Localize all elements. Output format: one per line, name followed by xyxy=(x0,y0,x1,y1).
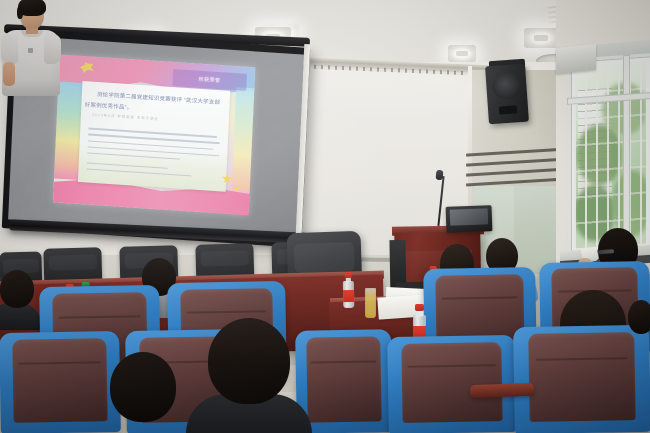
presenter-arm xyxy=(3,62,15,86)
tea-glass xyxy=(365,288,376,318)
auditorium-seat xyxy=(295,329,393,433)
loudspeaker-icon xyxy=(485,64,529,125)
window-mullion xyxy=(624,56,629,252)
seat-armrest xyxy=(470,383,534,398)
auditorium-seat xyxy=(0,331,121,433)
audience-person-edge xyxy=(628,300,650,360)
presenter-sleeve xyxy=(44,34,61,64)
water-bottle xyxy=(343,272,355,308)
podium-monitor xyxy=(446,205,493,233)
ceiling-light-icon xyxy=(448,45,476,62)
audience-person xyxy=(0,270,40,326)
conference-room-photo: 所获荣誉 测绘学院第二届党建知识竞赛获评 “武汉大学支部 好案例优秀作品”。 2… xyxy=(0,0,650,433)
window-blind-box xyxy=(556,44,596,74)
audience-person-foreground xyxy=(104,352,188,433)
presenter-sleeve xyxy=(1,34,18,64)
microphone-icon xyxy=(435,170,443,181)
presenter-hair-side xyxy=(17,6,23,19)
audience-person-foreground xyxy=(196,318,302,433)
ceiling-light-icon xyxy=(524,28,558,48)
window-security-bars xyxy=(574,61,646,248)
shirt-logo xyxy=(28,48,33,53)
